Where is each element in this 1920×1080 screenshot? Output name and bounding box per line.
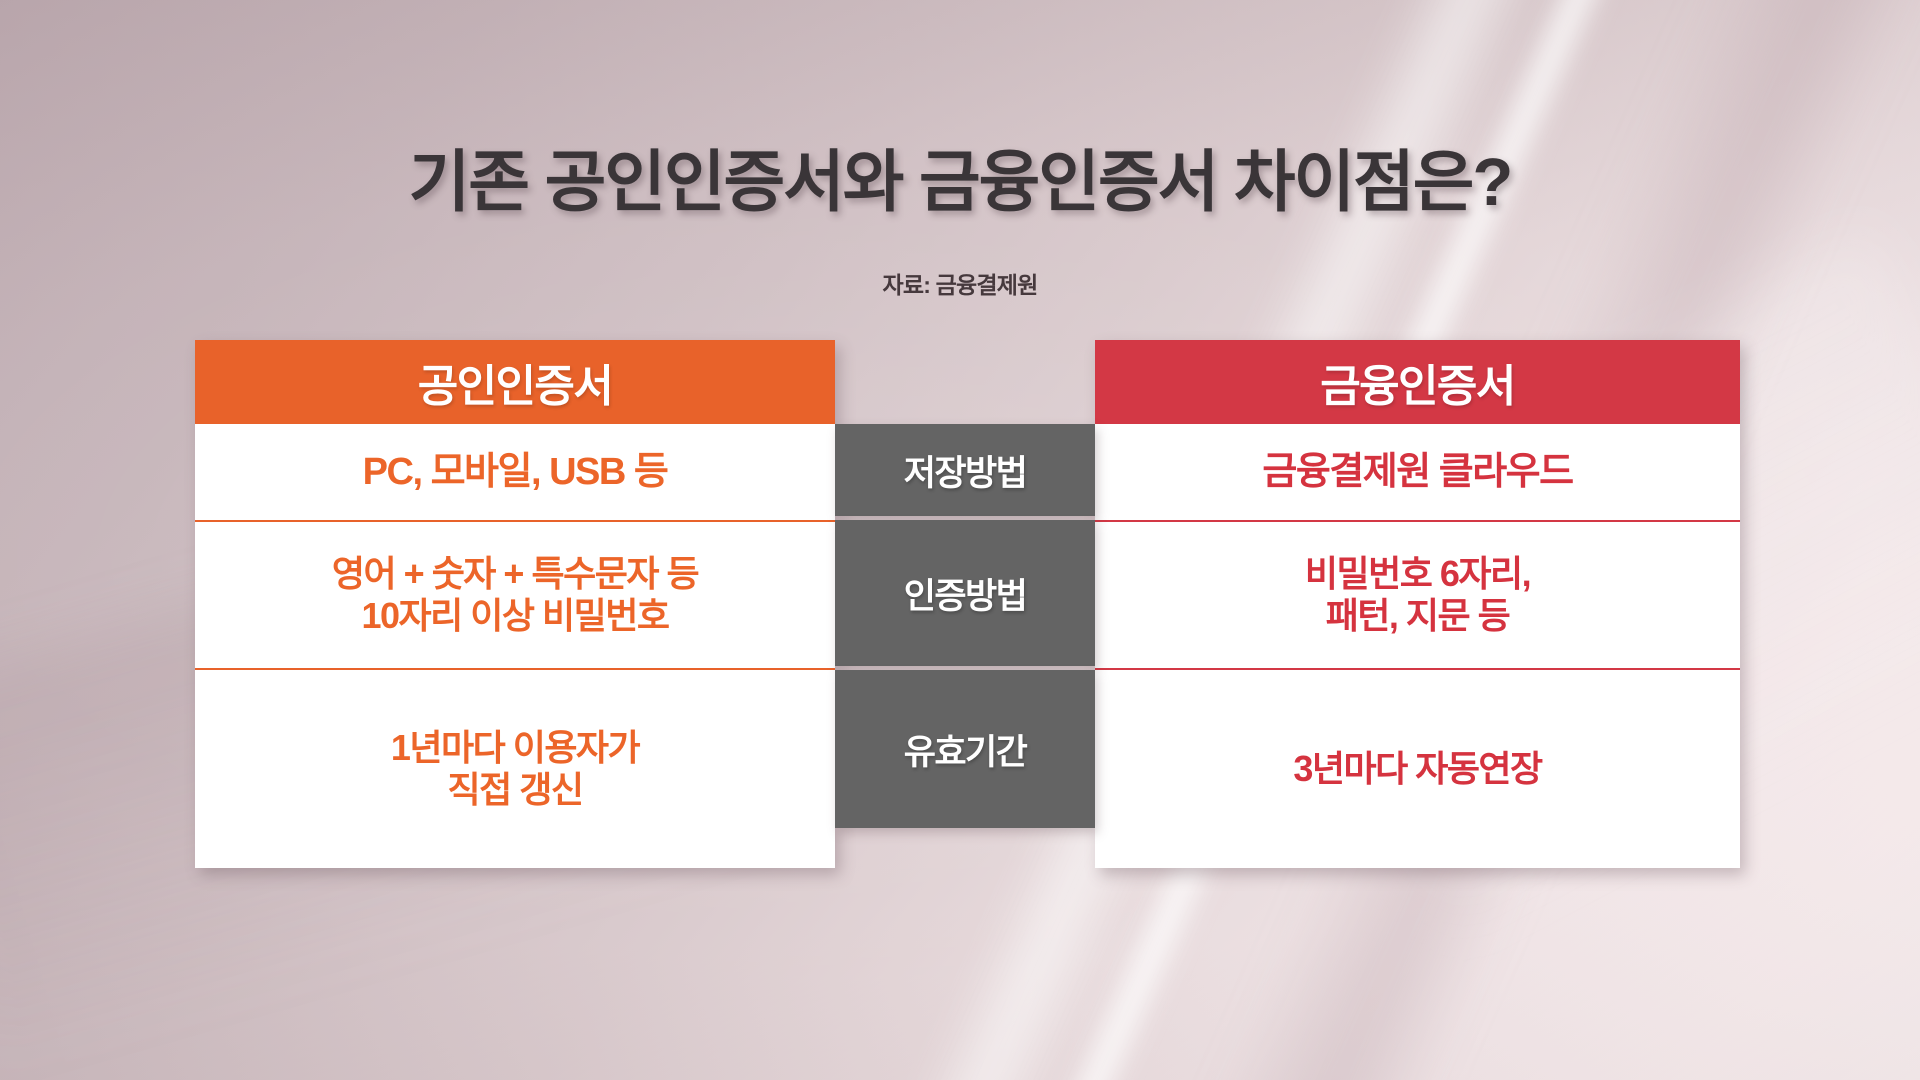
right-cell-validity-line1: 3년마다 자동연장: [1293, 748, 1541, 790]
left-column-header: 공인인증서: [195, 340, 835, 424]
right-cell-auth: 비밀번호 6자리, 패턴, 지문 등: [1095, 520, 1740, 668]
right-column-panel: 금융인증서 금융결제원 클라우드 비밀번호 6자리, 패턴, 지문 등 3년마다…: [1095, 340, 1740, 868]
comparison-table: 공인인증서 PC, 모바일, USB 등 영어 + 숫자 + 특수문자 등 10…: [195, 340, 1740, 868]
left-cell-auth: 영어 + 숫자 + 특수문자 등 10자리 이상 비밀번호: [195, 520, 835, 668]
right-cell-auth-line1: 비밀번호 6자리,: [1305, 553, 1530, 595]
page-title: 기존 공인인증서와 금융인증서 차이점은?: [0, 128, 1920, 225]
right-cell-validity: 3년마다 자동연장: [1095, 668, 1740, 868]
left-cell-auth-line1: 영어 + 숫자 + 특수문자 등: [332, 553, 698, 595]
right-column-header: 금융인증서: [1095, 340, 1740, 424]
right-cell-storage-line1: 금융결제원 클라우드: [1262, 450, 1572, 494]
left-cell-validity-line1: 1년마다 이용자가: [391, 727, 639, 769]
left-column-panel: 공인인증서 PC, 모바일, USB 등 영어 + 숫자 + 특수문자 등 10…: [195, 340, 835, 868]
source-attribution: 자료: 금융결제원: [0, 266, 1920, 300]
row-label-storage: 저장방법: [835, 424, 1095, 516]
right-cell-auth-line2: 패턴, 지문 등: [1326, 595, 1510, 637]
center-label-column: 저장방법 인증방법 유효기간: [835, 340, 1095, 868]
infographic-slide: 기존 공인인증서와 금융인증서 차이점은? 자료: 금융결제원 공인인증서 PC…: [0, 0, 1920, 1080]
left-cell-auth-line2: 10자리 이상 비밀번호: [361, 595, 668, 637]
left-cell-validity: 1년마다 이용자가 직접 갱신: [195, 668, 835, 868]
left-cell-storage-line1: PC, 모바일, USB 등: [363, 450, 668, 494]
left-cell-validity-line2: 직접 갱신: [448, 769, 583, 811]
right-cell-storage: 금융결제원 클라우드: [1095, 424, 1740, 520]
row-label-validity: 유효기간: [835, 670, 1095, 828]
left-cell-storage: PC, 모바일, USB 등: [195, 424, 835, 520]
row-label-auth: 인증방법: [835, 520, 1095, 666]
